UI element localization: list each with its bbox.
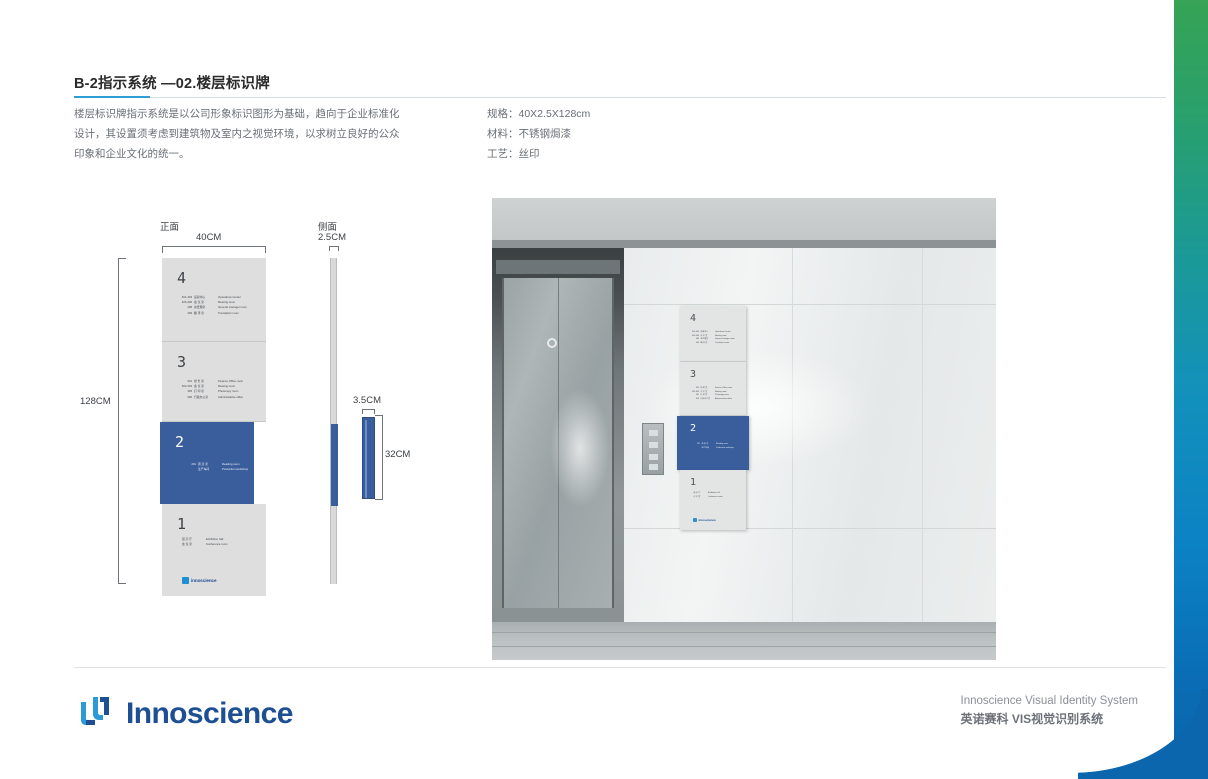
photo-sign-panel-floor-2: 2201阅 览 室Reading room生产车间Production work…: [677, 416, 749, 470]
photo-wall-seam: [624, 304, 996, 305]
sign-side-view: [330, 258, 337, 584]
room-name-en: Production workshop: [716, 447, 734, 451]
room-row: 生产车间Production workshop: [688, 447, 744, 451]
sign-brand-logo: innoscience: [182, 577, 216, 584]
room-code: 306: [687, 398, 699, 402]
side-view-highlight-band: [331, 424, 338, 506]
photo-sign-brand-name: innoscience: [699, 518, 716, 522]
photo-floor-line: [492, 646, 996, 647]
room-row: 409翻 译 室Translation room: [172, 311, 264, 316]
page-root: B-2指示系统 —02.楼层标识牌 楼层标识牌指示系统是以公司形象标识图形为基础…: [0, 0, 1208, 779]
innoscience-mark-icon: [182, 577, 189, 584]
bracket-detail-width: [362, 409, 375, 414]
detail-highlight-bar: [362, 417, 375, 499]
room-row: 生产车间Production workshop: [176, 467, 268, 472]
bracket-height: [118, 258, 126, 584]
photo-sign-brand-logo: innoscience: [693, 518, 716, 522]
detail-bar-edge: [365, 420, 367, 498]
photo-ceiling: [492, 198, 996, 240]
floor-room-list: 301财 务 室Finance Office room302-303会 议 室M…: [172, 379, 264, 400]
floor-number: 1: [177, 515, 186, 533]
floor-number: 1: [690, 477, 696, 488]
room-name-cn: 翻 译 室: [194, 311, 216, 316]
room-name-en: Administrative office: [218, 395, 264, 400]
spec-size: 规格：40X2.5X128cm: [487, 104, 590, 124]
floor-room-list: 301财 务 室Finance Office room302-303会 议 室M…: [687, 387, 743, 401]
photo-mounted-sign: 4401-403运营中心Operations Center405-406会 议 …: [680, 306, 746, 530]
floor-room-list: 展 示 厅Exhibition hall会 议 室Conference room: [180, 537, 272, 547]
room-name-en: Conference room: [708, 496, 723, 500]
bracket-width: [162, 246, 266, 253]
sign-front-view: 4401-403运营中心Operations Center405-406会 议 …: [162, 258, 266, 596]
floor-number: 3: [177, 353, 186, 371]
photo-floor: [492, 622, 996, 660]
footer-tagline: Innoscience Visual Identity System 英诺赛科 …: [961, 692, 1139, 728]
room-code: 409: [687, 342, 699, 346]
room-code: 306: [172, 395, 192, 400]
dimension-detail-height-label: 32CM: [385, 449, 410, 460]
header-accent-bar: [74, 96, 150, 98]
footer-tagline-en: Innoscience Visual Identity System: [961, 692, 1139, 710]
room-row: 409翻 译 室Translation room: [687, 342, 743, 346]
room-name-cn: 行政办公室: [701, 398, 714, 402]
footer-tagline-cn: 英诺赛科 VIS视觉识别系统: [961, 710, 1139, 728]
photo-sign-panel-floor-3: 3301财 务 室Finance Office room302-303会 议 室…: [680, 362, 746, 416]
side-view-label: 侧面: [318, 219, 337, 233]
sign-panel-floor-3: 3301财 务 室Finance Office room302-303会 议 室…: [162, 342, 266, 422]
dimension-thickness-label: 2.5CM: [318, 232, 346, 243]
page-title: B-2指示系统 —02.楼层标识牌: [74, 72, 270, 93]
floor-room-list: 展 示 厅Exhibition hall会 议 室Conference room: [692, 492, 748, 499]
spec-list: 规格：40X2.5X128cm 材料：不锈钢焗漆 工艺：丝印: [487, 104, 590, 164]
floor-number: 2: [690, 423, 696, 434]
floor-room-list: 201阅 览 室Reading room生产车间Production works…: [176, 462, 268, 472]
room-name-cn: 生产车间: [198, 467, 220, 472]
footer-divider: [74, 667, 1166, 668]
edge-gradient-stripe: [1174, 0, 1208, 779]
floor-number: 4: [177, 269, 186, 287]
room-name-cn: 会 议 室: [694, 496, 707, 500]
photo-call-panel: [642, 423, 664, 475]
dimension-detail-width-label: 3.5CM: [353, 395, 381, 406]
innoscience-mark-icon: [693, 518, 697, 522]
photo-light-reflection: [550, 388, 610, 508]
room-code: [176, 467, 196, 472]
floor-room-list: 201阅 览 室Reading room生产车间Production works…: [688, 443, 744, 450]
description-text: 楼层标识牌指示系统是以公司形象标识图形为基础，趋向于企业标准化设计，其设置须考虑…: [74, 104, 404, 164]
dimension-width-label: 40CM: [196, 232, 221, 243]
room-name-cn: 翻 译 室: [701, 342, 714, 346]
photo-wall-seam-vertical: [922, 248, 923, 630]
room-row: 会 议 室Conference room: [692, 496, 748, 500]
floor-room-list: 401-403运营中心Operations Center405-406会 议 室…: [687, 331, 743, 345]
room-name-en: Translation room: [715, 342, 729, 346]
room-row: 会 议 室Conference room: [180, 542, 272, 547]
installation-photo: 4401-403运营中心Operations Center405-406会 议 …: [492, 198, 996, 660]
room-name-en: Conference room: [206, 542, 272, 547]
room-name-cn: 会 议 室: [182, 542, 204, 547]
innoscience-mark-icon: [76, 692, 114, 735]
room-code: [688, 447, 700, 451]
floor-number: 3: [690, 369, 696, 380]
bracket-detail-height: [375, 415, 383, 500]
floor-room-list: 401-403运营中心Operations Center405-406会 议 室…: [172, 295, 264, 316]
sign-panel-floor-1: 1展 示 厅Exhibition hall会 议 室Conference roo…: [162, 504, 266, 596]
room-name-cn: 行政办公室: [194, 395, 216, 400]
bracket-side-thickness: [329, 246, 339, 251]
photo-elevator-button: [547, 338, 557, 348]
photo-sign-panel-floor-4: 4401-403运营中心Operations Center405-406会 议 …: [680, 306, 746, 362]
footer-brand-name: Innoscience: [126, 697, 293, 731]
photo-elevator-header: [496, 260, 620, 274]
header-divider: [74, 97, 1166, 98]
footer-logo: Innoscience: [76, 692, 293, 735]
front-view-label: 正面: [160, 219, 179, 233]
photo-sign-panel-floor-1: 1展 示 厅Exhibition hall会 议 室Conference roo…: [680, 470, 746, 530]
room-code: 409: [172, 311, 192, 316]
spec-material: 材料：不锈钢焗漆: [487, 124, 590, 144]
room-row: 306行政办公室Administrative office: [172, 395, 264, 400]
dimension-height-label: 128CM: [80, 396, 111, 407]
room-row: 306行政办公室Administrative office: [687, 398, 743, 402]
floor-number: 4: [690, 313, 696, 324]
room-name-en: Administrative office: [715, 398, 732, 402]
sign-brand-name: innoscience: [191, 578, 216, 583]
sign-panel-floor-2: 2201阅 览 室Reading room生产车间Production work…: [160, 422, 254, 504]
spec-process: 工艺：丝印: [487, 144, 590, 164]
floor-number: 2: [175, 433, 184, 451]
sign-panel-floor-4: 4401-403运营中心Operations Center405-406会 议 …: [162, 258, 266, 342]
room-name-en: Translation room: [218, 311, 264, 316]
photo-floor-line: [492, 632, 996, 633]
room-name-en: Production workshop: [222, 467, 268, 472]
room-name-cn: 生产车间: [702, 447, 715, 451]
